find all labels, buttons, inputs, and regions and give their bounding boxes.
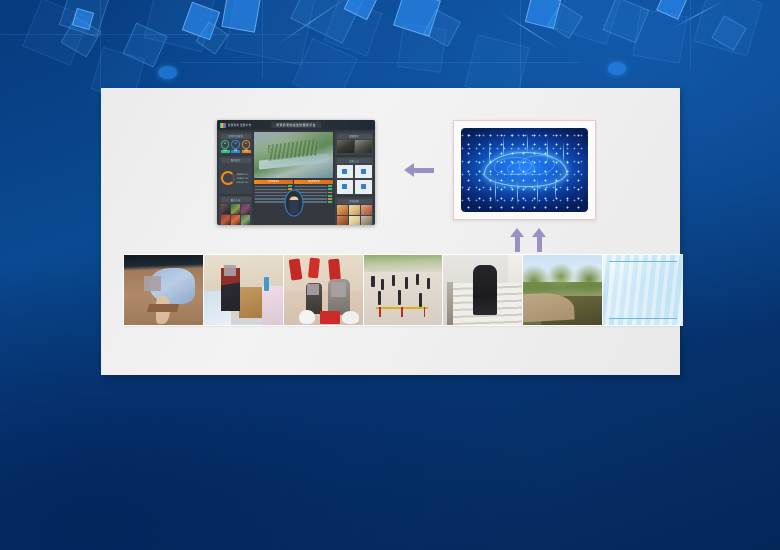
photo-person [381, 279, 384, 290]
table-row[interactable] [254, 188, 293, 190]
deco-square [290, 0, 368, 44]
photo-post [401, 307, 402, 317]
flow-arrow-left [404, 163, 434, 177]
photo-floor-mat [147, 304, 179, 312]
scenario-photo-4[interactable] [364, 255, 443, 325]
photo-person [405, 277, 408, 288]
photo-person [416, 274, 419, 285]
deco-square [72, 8, 94, 30]
legend-item: 居家服务 62% [237, 173, 249, 176]
photo-object [264, 277, 269, 291]
deco-gridline [100, 0, 101, 95]
legend-item: 机构照护 24% [237, 177, 249, 180]
arrow-head [404, 163, 414, 177]
deco-square [221, 0, 260, 33]
function-icons-card: 功能入口 [335, 157, 373, 195]
gauge-warning[interactable]: 12 预警 [231, 140, 240, 153]
gauge-ring: 86 [221, 140, 230, 149]
deco-gridline [690, 0, 691, 70]
function-icon[interactable] [337, 180, 354, 194]
gauges-header: 实时状态监测 [221, 134, 251, 139]
logo-icon [220, 123, 226, 128]
arrow-shaft [515, 235, 520, 252]
table-row[interactable] [254, 185, 293, 187]
deco-streak [499, 12, 559, 50]
donut-row: 居家服务 62% 机构照护 24% 社区日照 14% [221, 164, 251, 192]
deco-gridline [262, 0, 263, 78]
ai-neural-brain-graphic [461, 128, 588, 212]
deco-square [603, 0, 650, 43]
deco-square [61, 17, 102, 58]
meal-thumbnail[interactable] [337, 205, 348, 215]
photo-object [320, 311, 341, 324]
meal-thumbnail[interactable] [337, 216, 348, 225]
gauge-online[interactable]: 86 在线 [221, 140, 230, 153]
arrow-head [510, 228, 524, 237]
camera-feed[interactable] [337, 140, 354, 153]
arrow-head [532, 228, 546, 237]
gauge-button[interactable]: 报警 [242, 150, 251, 153]
person-thumbnail[interactable] [231, 204, 240, 215]
donut-chart [221, 171, 235, 185]
deco-square [144, 0, 217, 52]
photo-ground [364, 272, 443, 325]
arrow-shaft [413, 168, 434, 173]
donut-header: 服务统计 [221, 158, 251, 163]
scenario-photo-1[interactable] [124, 255, 203, 325]
data-streak [537, 178, 538, 205]
person-thumbnail[interactable] [241, 204, 250, 215]
photo-person [427, 278, 430, 289]
deco-square [547, 3, 583, 39]
meal-items-header: 营养配餐 [337, 199, 372, 204]
deco-square [195, 21, 228, 54]
gauge-button[interactable]: 预警 [231, 150, 240, 153]
donut-legend: 居家服务 62% 机构照护 24% 社区日照 14% [237, 173, 249, 184]
data-streak [495, 177, 496, 202]
dashboard-logo-label: 智慧养老 监管平台 [228, 123, 251, 127]
dashboard-title: 智慧养老综合监管服务平台 [271, 122, 321, 128]
person-thumbnail[interactable] [241, 215, 250, 225]
function-icon[interactable] [355, 165, 372, 179]
legend-item: 社区日照 14% [237, 181, 249, 184]
brain-fold [507, 162, 535, 175]
alert-events-header: 今日预警事件 [254, 180, 293, 184]
deco-square [225, 0, 318, 65]
dashboard-body: 实时状态监测 86 在线 12 预警 05 [217, 130, 375, 225]
scenario-photo-3[interactable] [284, 255, 363, 325]
function-icon[interactable] [355, 180, 372, 194]
dashboard-lower-row: 今日预警事件 告警处理记录 [254, 180, 333, 225]
camera-feed[interactable] [355, 140, 372, 153]
data-streak [489, 140, 490, 165]
privacy-blur [224, 265, 237, 276]
deco-square [525, 0, 561, 29]
photo-person [378, 291, 381, 305]
deco-streak [275, 0, 350, 46]
data-streak [555, 177, 556, 201]
table-row[interactable] [294, 185, 333, 187]
arrow-shaft [537, 235, 542, 252]
photo-object [299, 310, 315, 324]
smart-care-monitoring-dashboard[interactable]: 智慧养老 监管平台 智慧养老综合监管服务平台 实时状态监测 86 在线 12 [217, 120, 375, 225]
deco-square [344, 0, 379, 20]
meal-thumbnail[interactable] [349, 216, 360, 225]
photo-person [398, 290, 401, 305]
dashboard-topbar: 智慧养老 监管平台 智慧养老综合监管服务平台 [217, 120, 375, 130]
deco-streak [671, 0, 724, 29]
cameras-card: 视频监控 [335, 132, 373, 155]
meal-thumbnail[interactable] [361, 205, 372, 215]
function-icon-grid [337, 165, 372, 194]
person-thumbnail[interactable] [231, 215, 240, 225]
deco-square [123, 23, 168, 68]
data-streak [527, 133, 528, 153]
data-streak [563, 141, 564, 163]
dashboard-center-column: 今日预警事件 告警处理记录 [254, 132, 333, 225]
brain-fold [494, 157, 532, 175]
people-card: 重点人员 [219, 196, 252, 225]
privacy-blur [331, 282, 346, 297]
photo-post [379, 307, 380, 317]
photo-trees [523, 262, 602, 294]
gauges-card: 实时状态监测 86 在线 12 预警 05 [219, 132, 252, 154]
meal-thumbnail[interactable] [361, 216, 372, 225]
flow-arrow-up-2 [532, 228, 546, 252]
people-header: 重点人员 [221, 197, 251, 202]
photo-post [424, 307, 425, 317]
table-row[interactable] [294, 188, 333, 190]
gauge-ring: 12 [231, 140, 240, 149]
slide-canvas: 智慧养老 监管平台 智慧养老综合监管服务平台 实时状态监测 86 在线 12 [0, 0, 780, 550]
deco-square [423, 9, 461, 47]
deco-square [59, 0, 109, 37]
deco-square [711, 15, 747, 51]
person-thumbnail[interactable] [221, 215, 230, 225]
data-streak [547, 138, 548, 162]
deco-square [393, 0, 441, 37]
deco-ellipse [158, 66, 177, 79]
deco-gridline [180, 62, 580, 63]
flow-arrow-up-1 [510, 228, 524, 252]
scenario-photo-5[interactable] [443, 255, 522, 325]
photo-furniture [239, 287, 263, 318]
photo-person [419, 293, 422, 307]
brain-fold [519, 155, 555, 175]
gauge-alarm[interactable]: 05 报警 [242, 140, 251, 153]
photo-handrail [447, 282, 453, 325]
data-streak [517, 180, 518, 205]
photo-person [371, 276, 374, 287]
deco-gridline [520, 0, 521, 88]
deco-square [693, 0, 762, 57]
person-thumbnail[interactable] [221, 204, 230, 215]
camera-feed-group [337, 140, 372, 153]
alarm-records-header: 告警处理记录 [294, 180, 333, 184]
photo-inner-frame [609, 261, 677, 318]
photo-object [342, 311, 359, 324]
function-icons-header: 功能入口 [337, 158, 372, 163]
donut-card: 服务统计 居家服务 62% 机构照护 24% 社区日照 14% [219, 156, 252, 194]
privacy-blur [144, 276, 161, 291]
campus-3d-map-view[interactable] [254, 132, 333, 178]
deco-square [324, 0, 383, 56]
people-thumbnail-grid [221, 204, 251, 225]
meal-items-card: 营养配餐 [335, 197, 373, 225]
deco-gridline [0, 34, 300, 35]
deco-ellipse [608, 62, 626, 75]
gauge-ring: 05 [242, 140, 251, 149]
dashboard-left-column: 实时状态监测 86 在线 12 预警 05 [219, 132, 252, 225]
photo-subject [473, 265, 497, 315]
photo-person [392, 275, 395, 286]
scenario-photo-6[interactable] [523, 255, 602, 325]
gauge-group: 86 在线 12 预警 05 报警 [221, 140, 251, 153]
ai-brain-frame [453, 120, 596, 220]
cameras-header: 视频监控 [337, 134, 372, 139]
meal-thumbnail[interactable] [349, 205, 360, 215]
scenario-photo-strip [124, 255, 682, 325]
person-profile-avatar[interactable] [284, 189, 303, 216]
content-panel: 智慧养老 监管平台 智慧养老综合监管服务平台 实时状态监测 86 在线 12 [101, 88, 680, 375]
scenario-photo-7[interactable] [603, 255, 682, 325]
deco-square [397, 23, 447, 73]
data-streak [503, 135, 504, 157]
deco-square [555, 0, 623, 45]
deco-square [182, 2, 220, 40]
meal-thumbnail-grid [337, 205, 372, 225]
privacy-blur [307, 284, 319, 295]
deco-square [632, 8, 688, 64]
photo-bed-right [262, 286, 283, 325]
function-icon[interactable] [337, 165, 354, 179]
scenario-photo-2[interactable] [204, 255, 283, 325]
dashboard-right-column: 视频监控 功能入口 [335, 132, 373, 225]
gauge-button[interactable]: 在线 [221, 150, 230, 153]
deco-square [656, 0, 688, 20]
deco-square [22, 0, 90, 66]
